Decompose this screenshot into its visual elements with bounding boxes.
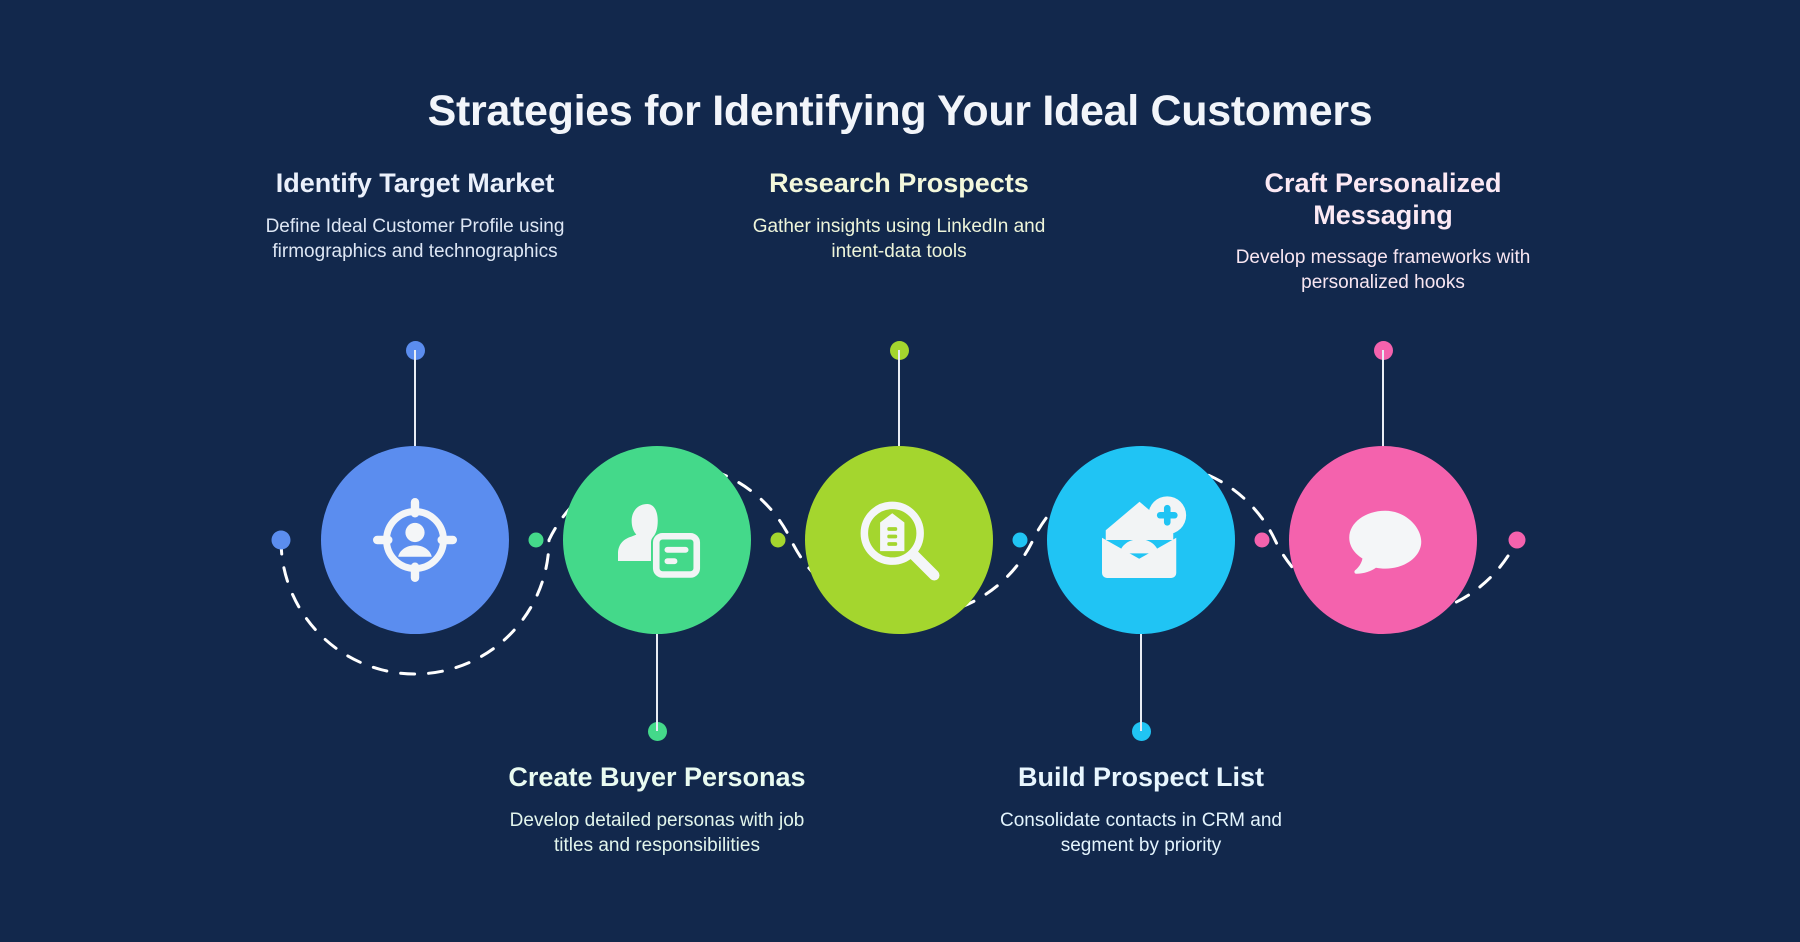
persona-card-icon [609, 492, 705, 588]
step-circle-3[interactable] [805, 446, 993, 634]
step-description: Define Ideal Customer Profile using firm… [265, 214, 565, 265]
step-heading: Identify Target Market [265, 168, 565, 200]
path-endpoint-dot-right [1509, 532, 1526, 549]
step-stem-line [1382, 350, 1384, 446]
step-stem-line [1140, 634, 1142, 731]
step-stem-line [414, 350, 416, 446]
path-junction-dot [529, 533, 544, 548]
step-circle-5[interactable] [1289, 446, 1477, 634]
inbox-add-contact-icon [1093, 492, 1189, 588]
step-stem-line [898, 350, 900, 446]
path-junction-dot [1013, 533, 1028, 548]
step-circle-4[interactable] [1047, 446, 1235, 634]
step-label-5: Craft Personalized MessagingDevelop mess… [1233, 168, 1533, 296]
speech-bubble-icon [1335, 492, 1431, 588]
path-junction-dot [771, 533, 786, 548]
step-description: Consolidate contacts in CRM and segment … [991, 808, 1291, 859]
step-description: Develop detailed personas with job title… [507, 808, 807, 859]
step-label-4: Build Prospect ListConsolidate contacts … [991, 762, 1291, 858]
step-heading: Create Buyer Personas [507, 762, 807, 794]
step-label-3: Research ProspectsGather insights using … [749, 168, 1049, 264]
path-junction-dot [1255, 533, 1270, 548]
step-circle-1[interactable] [321, 446, 509, 634]
step-stem-line [656, 634, 658, 731]
step-circle-2[interactable] [563, 446, 751, 634]
infographic-canvas: Strategies for Identifying Your Ideal Cu… [0, 0, 1800, 942]
target-person-icon [367, 492, 463, 588]
step-label-2: Create Buyer PersonasDevelop detailed pe… [507, 762, 807, 858]
step-heading: Build Prospect List [991, 762, 1291, 794]
step-description: Develop message frameworks with personal… [1233, 245, 1533, 296]
step-description: Gather insights using LinkedIn and inten… [749, 214, 1049, 265]
magnifier-building-icon [851, 492, 947, 588]
path-endpoint-dot-left [272, 531, 291, 550]
step-heading: Craft Personalized Messaging [1233, 168, 1533, 231]
step-heading: Research Prospects [749, 168, 1049, 200]
step-label-1: Identify Target MarketDefine Ideal Custo… [265, 168, 565, 264]
